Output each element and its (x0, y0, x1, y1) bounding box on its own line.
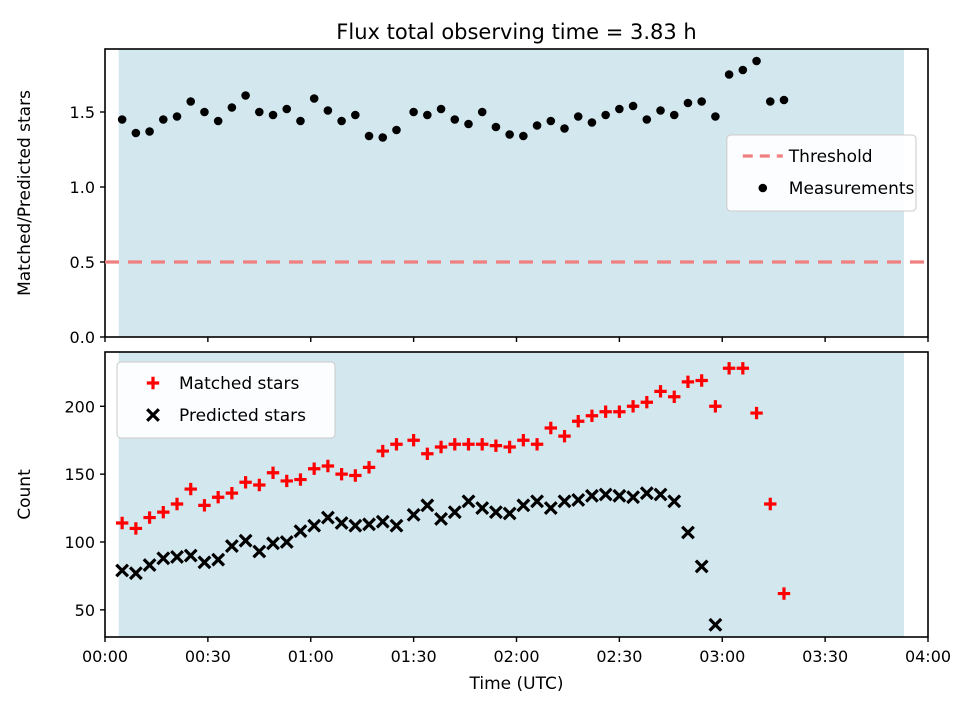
legend-swatch-measurements (759, 184, 768, 193)
data-point (478, 108, 487, 117)
data-point (656, 106, 665, 115)
legend-label: Threshold (788, 147, 873, 167)
data-point (752, 57, 761, 66)
data-point (296, 117, 305, 126)
data-point (546, 117, 555, 126)
data-point (186, 97, 195, 106)
x-tick-label: 01:30 (391, 647, 437, 666)
data-point (560, 124, 569, 133)
figure-title: Flux total observing time = 3.83 h (336, 20, 696, 44)
data-point (615, 105, 624, 114)
data-point (351, 111, 360, 120)
data-point (492, 123, 501, 132)
data-point (601, 111, 610, 120)
plot-canvas: Flux total observing time = 3.83 h0.00.5… (0, 0, 960, 720)
x-tick-label: 00:30 (185, 647, 231, 666)
data-point (464, 120, 473, 129)
y-tick-label: 0.0 (70, 328, 95, 347)
data-point (725, 70, 734, 79)
data-point (228, 103, 237, 112)
y-tick-label: 100 (64, 533, 95, 552)
x-axis-label: Time (UTC) (469, 674, 564, 694)
data-point (643, 115, 652, 124)
data-point (337, 117, 346, 126)
data-point (697, 97, 706, 106)
y-tick-label: 200 (64, 397, 95, 416)
data-point (684, 99, 693, 108)
data-point (629, 102, 638, 111)
y-tick-label: 0.5 (70, 253, 95, 272)
data-point (255, 108, 264, 117)
data-point (282, 105, 291, 114)
x-tick-label: 03:30 (802, 647, 848, 666)
data-point (200, 108, 209, 117)
axes-ratio: 0.00.51.01.5Matched/Predicted starsThres… (15, 49, 928, 347)
legend-ratio[interactable]: ThresholdMeasurements (727, 135, 916, 211)
x-tick-label: 03:00 (699, 647, 745, 666)
data-point (437, 105, 446, 114)
data-point (310, 94, 319, 103)
data-point (159, 115, 168, 124)
data-point (269, 111, 278, 120)
legend-label: Predicted stars (179, 406, 306, 426)
data-point (670, 111, 679, 120)
figure-container: Flux total observing time = 3.83 h0.00.5… (0, 0, 960, 720)
y-tick-label: 50 (75, 601, 95, 620)
data-point (173, 112, 182, 121)
data-point (324, 106, 333, 115)
data-point (519, 132, 528, 141)
data-point (711, 112, 720, 121)
legend-label: Matched stars (179, 374, 299, 394)
data-point (450, 115, 459, 124)
legend-count[interactable]: Matched starsPredicted stars (117, 362, 335, 438)
data-point (766, 97, 775, 106)
x-tick-label: 01:00 (288, 647, 334, 666)
y-axis-label: Count (15, 469, 35, 520)
data-point (505, 130, 514, 139)
data-point (780, 96, 789, 105)
data-point (409, 108, 418, 117)
legend-label: Measurements (789, 179, 915, 199)
data-point (739, 66, 748, 75)
data-point (533, 121, 542, 130)
y-tick-label: 1.5 (70, 103, 95, 122)
data-point (241, 91, 250, 100)
data-point (365, 132, 374, 141)
x-tick-label: 04:00 (905, 647, 951, 666)
data-point (588, 118, 597, 127)
data-point (145, 127, 154, 136)
x-tick-label: 02:30 (596, 647, 642, 666)
x-tick-label: 00:00 (82, 647, 128, 666)
y-axis-label: Matched/Predicted stars (15, 90, 35, 296)
data-point (574, 112, 583, 121)
data-point (378, 133, 387, 142)
data-point (423, 111, 432, 120)
data-point (118, 115, 127, 124)
axes-count: 00:0000:3001:0001:3002:0002:3003:0003:30… (15, 352, 951, 694)
y-tick-label: 150 (64, 465, 95, 484)
data-point (392, 126, 401, 135)
y-tick-label: 1.0 (70, 178, 95, 197)
data-point (132, 129, 141, 138)
data-point (214, 117, 223, 126)
x-tick-label: 02:00 (493, 647, 539, 666)
